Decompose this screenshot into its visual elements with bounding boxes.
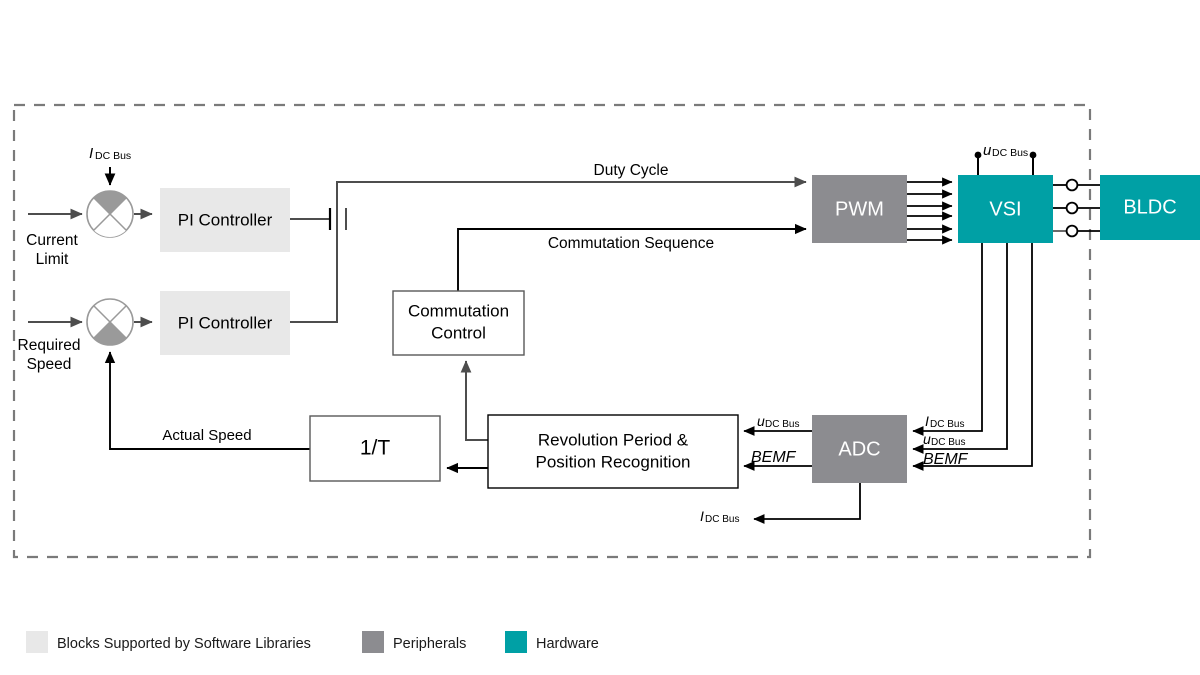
subscript: DC Bus [931,437,965,448]
block-label: BLDC [1123,196,1176,218]
symbol: I [700,508,704,524]
label-actual-speed: Actual Speed [162,427,251,444]
legend-swatch-peripherals [362,631,384,653]
block-label: PI Controller [178,210,273,229]
block-label: ADC [838,438,880,460]
annotation-idc-bus-adc-output: I DC Bus [700,508,739,525]
block-label-line1: Revolution Period & [538,430,689,449]
label-required-speed-line1: Required [18,337,81,354]
annotation-udc-bus-adc-input: u DC Bus [923,431,965,448]
wire-vsi-idc-to-adc [913,243,982,431]
block-inverse-t[interactable]: 1/T [310,416,440,481]
symbol: u [757,413,765,429]
annotation-bemf-adc-to-revolution: BEMF [751,449,797,466]
legend-swatch-hardware [505,631,527,653]
block-commutation-control[interactable]: Commutation Control [393,291,524,355]
block-revolution-period-position-recognition[interactable]: Revolution Period & Position Recognition [488,415,738,488]
legend-label-hardware: Hardware [536,636,599,652]
annotation-bemf-adc-input: BEMF [923,451,969,468]
legend-label-software: Blocks Supported by Software Libraries [57,636,311,652]
annotation-udc-bus-adc-to-revolution: u DC Bus [757,413,799,430]
subscript: DC Bus [705,514,739,525]
block-label-line1: Commutation [408,301,509,320]
label-current-limit-line2: Limit [36,251,69,268]
block-adc[interactable]: ADC [812,415,907,483]
legend: Blocks Supported by Software Libraries P… [26,631,599,653]
label-commutation-sequence: Commutation Sequence [548,235,714,252]
label-required-speed-line2: Speed [27,356,72,373]
annotation-udc-bus-vsi-top: u DC Bus [983,142,1028,159]
label-duty-cycle: Duty Cycle [594,162,669,179]
vsi-to-bldc-phase-lines [1053,180,1100,237]
wire-vsi-bemf-to-adc [913,243,1032,466]
block-label: VSI [989,198,1021,220]
summing-junction-current [87,191,133,237]
subscript: DC Bus [930,419,964,430]
summing-junction-speed [87,299,133,345]
annotation-idc-bus-summing-input: I DC Bus [89,145,131,162]
legend-swatch-software [26,631,48,653]
block-label-line2: Position Recognition [536,452,691,471]
subscript: DC Bus [765,419,799,430]
symbol: u [923,431,931,447]
symbol: u [983,142,992,159]
block-pi-controller-current[interactable]: PI Controller [160,188,290,252]
block-pwm[interactable]: PWM [812,175,907,243]
bldc-control-block-diagram: PI Controller PI Controller Commutation … [0,0,1200,675]
block-bldc[interactable]: BLDC [1100,175,1200,240]
block-label-line2: Control [431,323,486,342]
wire-revolution-to-commutation [466,361,488,440]
annotation-idc-bus-adc-input: I DC Bus [925,413,964,430]
block-label: 1/T [360,437,391,460]
subscript: DC Bus [95,150,131,162]
pwm-to-vsi-bus [907,182,952,240]
block-pi-controller-speed[interactable]: PI Controller [160,291,290,355]
legend-label-peripherals: Peripherals [393,636,466,652]
subscript: DC Bus [992,147,1028,159]
symbol: I [89,145,93,162]
block-label: PWM [835,198,884,220]
wire-pi2-to-duty-cycle [290,182,806,322]
block-vsi[interactable]: VSI [958,175,1053,243]
block-label: PI Controller [178,313,273,332]
diagram-canvas: PI Controller PI Controller Commutation … [0,0,1200,675]
label-current-limit-line1: Current [26,232,78,249]
wire-adc-idc-output [754,483,860,519]
symbol: I [925,413,929,429]
